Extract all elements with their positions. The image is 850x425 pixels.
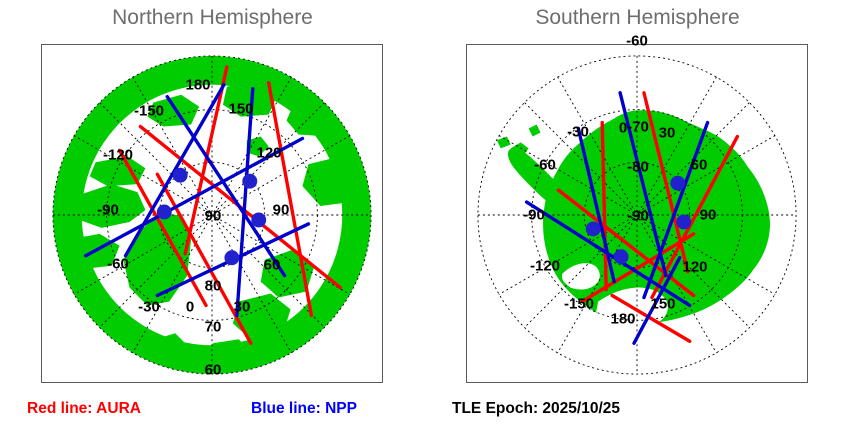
marker-dot — [676, 214, 691, 229]
legend-aura: Red line: AURA — [27, 400, 141, 418]
legend-npp: Blue line: NPP — [251, 400, 357, 418]
northern-hemisphere-panel: Northern Hemisphere — [0, 0, 425, 425]
southern-map-svg — [467, 45, 807, 382]
legend-tle-epoch: TLE Epoch: 2025/10/25 — [452, 400, 620, 418]
southern-panel-title: Southern Hemisphere — [425, 6, 850, 30]
marker-dot — [157, 205, 172, 220]
southern-hemisphere-panel: Southern Hemisphere — [425, 0, 850, 425]
southern-plot-frame: -90 -80 -70 0 30 60 90 120 150 180 -150 … — [466, 44, 808, 383]
northern-map-svg — [42, 45, 382, 382]
marker-dot — [586, 221, 601, 236]
marker-dot — [251, 213, 266, 228]
northern-panel-title: Northern Hemisphere — [0, 6, 425, 30]
marker-dot — [173, 168, 188, 183]
marker-dot — [242, 174, 257, 189]
marker-dot — [224, 250, 239, 265]
marker-dot — [670, 176, 685, 191]
marker-dot — [614, 249, 629, 264]
northern-plot-frame: 90 80 70 60 180 -150 150 -120 120 -90 90… — [41, 44, 383, 383]
